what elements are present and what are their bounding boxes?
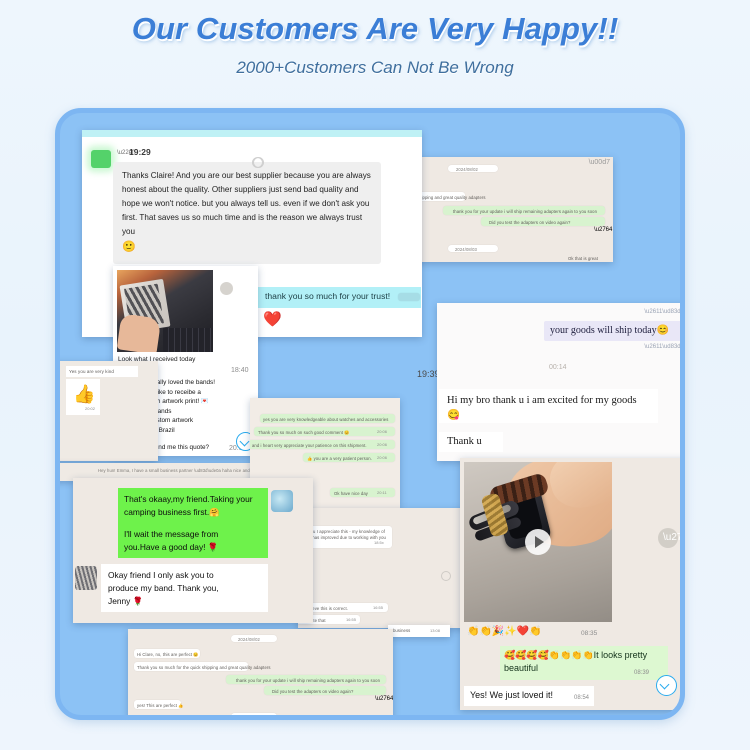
read-receipt-icon: \u2611\ud83d\udd14 — [644, 309, 685, 315]
chat-bubble-incoming[interactable]: Thanks Claire! And you are our best supp… — [113, 162, 381, 264]
message-timestamp: 19:29 — [129, 147, 151, 157]
promo-banner: Our Customers Are Very Happy!! 2000+Cust… — [0, 0, 750, 750]
incoming-line: Okay friend I only ask you to — [108, 569, 219, 582]
avatar — [91, 150, 111, 168]
emoji-timestamp: 20:02 — [85, 406, 95, 411]
chat-bubble-final[interactable]: Yes! We just loved it! 08:54 — [464, 686, 594, 706]
chat-line: and i heart very appreciate your patienc… — [252, 443, 367, 448]
screenshot-watch-video[interactable]: \u27a4 👏👏🎉✨❤️👏 08:35 🥰🥰🥰🥰👏👏👏👏It looks pr… — [460, 458, 685, 710]
outgoing-line: camping business first.🤗 — [124, 506, 253, 519]
play-button-icon[interactable] — [525, 529, 551, 555]
incoming-line: produce my band. Thank you, — [108, 582, 219, 595]
incoming-line: Jenny 🌹 — [108, 595, 219, 608]
chat-bubble-praise[interactable]: 🥰🥰🥰🥰👏👏👏👏It looks pretty beautiful 08:39 — [500, 646, 668, 680]
product-photo — [117, 270, 213, 352]
message-text: Thanks Claire! And you are our best supp… — [122, 169, 372, 239]
outgoing-line: I'll wait the message from — [124, 528, 253, 541]
video-timestamp: 08:35 — [581, 630, 597, 637]
screenshot-goods-ship[interactable]: \u2611\ud83d\udd14 your goods will ship … — [437, 303, 685, 461]
outgoing-line: That's okaay,my friend.Taking your — [124, 493, 253, 506]
heart-reaction: ❤️ — [263, 312, 282, 327]
incoming-text: Hi my bro thank u i am excited for my go… — [447, 393, 652, 423]
forward-icon[interactable]: \u27a4 — [658, 528, 678, 548]
chat-line: 👍 you are a very patient person. — [307, 456, 372, 462]
chat-timestamp: 16:55 — [346, 617, 356, 622]
avatar — [271, 490, 293, 512]
chat-timestamp: 20:06 — [377, 429, 387, 434]
chat-line: thank you for your update i will ship re… — [453, 209, 597, 214]
praise-timestamp: 08:39 — [634, 670, 649, 676]
reaction-emojis: 👏👏🎉✨❤️👏 — [467, 626, 542, 637]
chat-line: Ok that is great — [568, 256, 598, 261]
message-text: Yes you are very kind — [69, 369, 114, 374]
chat-line: yes! This are perfect 👍 — [137, 703, 184, 709]
chat-bubble-reply[interactable]: thank you so much for your trust! — [255, 287, 421, 308]
screenshot-adapters-duplicate[interactable]: 2024/08/02 Hi Clare, no, this are perfec… — [128, 629, 393, 720]
watch-photo[interactable] — [464, 462, 612, 622]
screenshot-camping-business[interactable]: That's okaay,my friend.Taking your campi… — [73, 478, 313, 623]
chat-line: Thank you so much on such good comment 😊 — [258, 430, 350, 436]
chat-line: thank you for your update i will ship re… — [236, 678, 380, 683]
chat-bubble-outgoing[interactable]: That's okaay,my friend.Taking your campi… — [118, 488, 268, 558]
chat-bubble-incoming[interactable]: Okay friend I only ask you to produce my… — [101, 564, 268, 612]
chat-bubble-incoming[interactable]: Thank u — [439, 432, 503, 452]
reaction-circle-icon[interactable] — [220, 282, 233, 295]
chat-bubble-emoji[interactable]: 👍 20:02 — [66, 379, 100, 415]
final-text: Yes! We just loved it! — [470, 690, 553, 700]
chat-bubble-incoming[interactable]: Hi my bro thank u i am excited for my go… — [439, 389, 658, 423]
chat-timestamp: 20:06 — [377, 455, 387, 460]
chat-line: Thank you so much for the quick shipping… — [137, 665, 271, 670]
reply-text: thank you so much for your trust! — [265, 291, 390, 301]
chat-line: yes you are very knowledgeable about wat… — [263, 417, 388, 422]
header: Our Customers Are Very Happy!! 2000+Cust… — [0, 0, 750, 78]
divider-time: 00:14 — [549, 364, 567, 371]
message-emoji: 🙂 — [122, 241, 372, 254]
final-timestamp: 08:54 — [574, 695, 589, 701]
chat-line: business — [393, 628, 410, 633]
outgoing-text: your goods will ship today😊 — [550, 325, 669, 336]
page-subtitle: 2000+Customers Can Not Be Wrong — [0, 47, 750, 78]
chat-timestamp: 20:06 — [377, 442, 387, 447]
chat-line: Did you test the adapters on video again… — [489, 220, 570, 225]
screenshot-very-kind[interactable]: Yes you are very kind 👍 20:02 — [55, 361, 158, 461]
outgoing-line: you.Have a good day! 🌹 — [124, 541, 253, 554]
incoming-text: Thank u — [447, 436, 482, 447]
read-receipt-icon: \u2611\ud83d\udd14 — [644, 344, 685, 350]
chat-bubble-outgoing[interactable]: your goods will ship today😊 — [544, 321, 685, 341]
chat-timestamp: 18:5x — [374, 540, 384, 545]
chat-bubble-incoming[interactable]: Yes you are very kind — [66, 366, 138, 377]
chat-timestamp: 20:11 — [377, 490, 387, 495]
photo-timestamp: 18:40 — [231, 367, 249, 374]
chat-line: Hi Clare, no, this are perfect 😊 — [137, 652, 199, 658]
avatar — [75, 566, 97, 590]
chat-timestamp: 16:55 — [373, 605, 383, 610]
chat-line: Did you test the adapters on video again… — [272, 689, 353, 694]
chat-timestamp: 13:08 — [430, 628, 440, 633]
praise-emojis: 🥰🥰🥰🥰👏👏👏👏 — [504, 650, 594, 660]
testimonial-collage-panel: 2024/08/02 Hi Clare, no, this are perfec… — [55, 108, 685, 720]
chat-line: Ok have nice day — [334, 491, 368, 496]
screenshot-business-strip[interactable]: business 13:08 — [388, 625, 450, 637]
page-title: Our Customers Are Very Happy!! — [0, 0, 750, 47]
scroll-down-icon[interactable] — [656, 675, 677, 696]
thumbs-up-emoji: 👍 — [73, 384, 95, 405]
